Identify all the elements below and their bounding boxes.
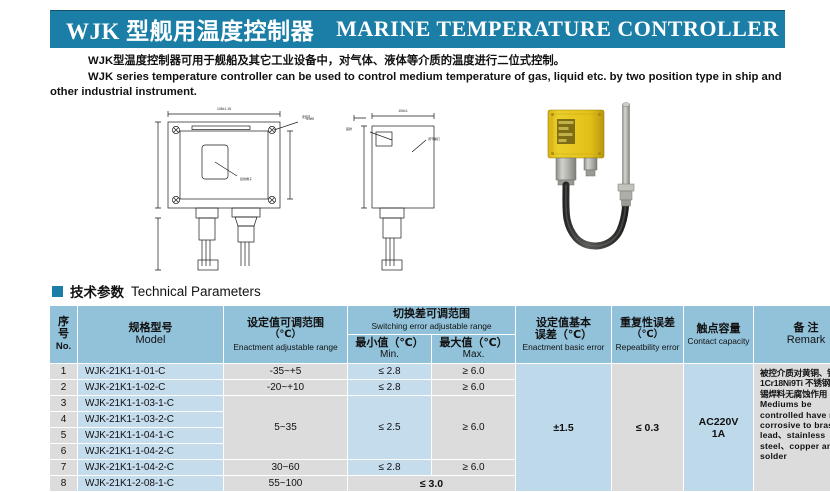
row-switch-min: ≤ 2.8 bbox=[348, 460, 432, 476]
title-chinese: WJK 型舰用温度控制器 bbox=[66, 12, 314, 46]
row8-switching-merged: ≤ 3.0 bbox=[348, 476, 516, 492]
row-range: 55~100 bbox=[224, 476, 348, 492]
intro-paragraphs: WJK型温度控制器可用于舰船及其它工业设备中，对气体、液体等介质的温度进行二位式… bbox=[50, 54, 790, 101]
table-row: 1 WJK-21K1-1-01-C -35~+5 ≤ 2.8 ≥ 6.0 ±1.… bbox=[50, 364, 830, 380]
row-switch-min-merged: ≤ 2.5 bbox=[348, 396, 432, 460]
section-heading-english: Technical Parameters bbox=[131, 284, 261, 299]
page-title-bar: WJK 型舰用温度控制器 MARINE TEMPERATURE CONTROLL… bbox=[50, 10, 785, 48]
drawing-svg: 108±1.15 106±1 4-M5 接线端子 安装孔 铭牌 调节螺钉 bbox=[140, 100, 500, 275]
header-range: 设定值可调范围 （℃） Enactment adjustable range bbox=[224, 306, 348, 364]
row-model: WJK-21K1-1-03-1-C bbox=[78, 396, 224, 412]
row-no: 4 bbox=[50, 412, 78, 428]
title-english: MARINE TEMPERATURE CONTROLLER bbox=[336, 16, 779, 42]
intro-chinese: WJK型温度控制器可用于舰船及其它工业设备中，对气体、液体等介质的温度进行二位式… bbox=[50, 54, 790, 70]
basic-error-value: ±1.5 bbox=[516, 364, 612, 492]
header-basic-error: 设定值基本 误差（℃） Enactment basic error bbox=[516, 306, 612, 364]
intro-english-line1: WJK series temperature controller can be… bbox=[50, 70, 790, 86]
row-no: 6 bbox=[50, 444, 78, 460]
row-switch-min: ≤ 2.8 bbox=[348, 380, 432, 396]
repeat-error-value: ≤ 0.3 bbox=[612, 364, 684, 492]
header-no: 序号No. bbox=[50, 306, 78, 364]
square-bullet-icon bbox=[52, 286, 63, 297]
row-no: 7 bbox=[50, 460, 78, 476]
header-remark: 备 注 Remark bbox=[754, 306, 830, 364]
row-range: -20~+10 bbox=[224, 380, 348, 396]
header-model: 规格型号 Model bbox=[78, 306, 224, 364]
svg-text:安装孔: 安装孔 bbox=[302, 114, 311, 119]
row-model: WJK-21K1-1-04-2-C bbox=[78, 460, 224, 476]
section-heading: 技术参数 Technical Parameters bbox=[52, 281, 261, 301]
row-switch-max: ≥ 6.0 bbox=[432, 364, 516, 380]
row-switch-max: ≥ 6.0 bbox=[432, 380, 516, 396]
header-switching-min: 最小值（℃） Min. bbox=[348, 335, 432, 364]
dimensional-drawing: 108±1.15 106±1 4-M5 接线端子 安装孔 铭牌 调节螺钉 bbox=[140, 100, 500, 275]
svg-text:铭牌: 铭牌 bbox=[346, 126, 352, 131]
svg-text:108±1.15: 108±1.15 bbox=[217, 107, 231, 111]
header-contact-capacity: 触点容量 Contact capacity bbox=[684, 306, 754, 364]
row-no: 1 bbox=[50, 364, 78, 380]
row-no: 5 bbox=[50, 428, 78, 444]
row-range-merged: 5~35 bbox=[224, 396, 348, 460]
row-model: WJK-21K1-1-02-C bbox=[78, 380, 224, 396]
remark-value: 被控介质对黄铜、铅、1Cr18Ni9Ti 不锈钢、铜锡焊料无腐蚀作用 Mediu… bbox=[754, 364, 830, 492]
header-switching-group: 切换差可调范围 Switching error adjustable range bbox=[348, 306, 516, 335]
row-model: WJK-21K1-2-08-1-C bbox=[78, 476, 224, 492]
row-switch-max-merged: ≥ 6.0 bbox=[432, 396, 516, 460]
table-header-row-1: 序号No. 规格型号 Model 设定值可调范围 （℃） Enactment a… bbox=[50, 306, 830, 335]
photo-svg bbox=[528, 98, 708, 274]
row-no: 3 bbox=[50, 396, 78, 412]
row-no: 2 bbox=[50, 380, 78, 396]
header-switching-max: 最大值（℃） Max. bbox=[432, 335, 516, 364]
svg-text:调节螺钉: 调节螺钉 bbox=[428, 136, 440, 141]
row-model: WJK-21K1-1-01-C bbox=[78, 364, 224, 380]
section-heading-chinese: 技术参数 bbox=[70, 281, 124, 301]
row-model: WJK-21K1-1-04-2-C bbox=[78, 444, 224, 460]
svg-text:接线端子: 接线端子 bbox=[240, 176, 252, 181]
row-range: -35~+5 bbox=[224, 364, 348, 380]
row-no: 8 bbox=[50, 476, 78, 492]
parameters-table: 序号No. 规格型号 Model 设定值可调范围 （℃） Enactment a… bbox=[49, 305, 830, 492]
row-model: WJK-21K1-1-04-1-C bbox=[78, 428, 224, 444]
product-photo bbox=[528, 98, 708, 274]
row-switch-min: ≤ 2.8 bbox=[348, 364, 432, 380]
technical-parameters-table: 序号No. 规格型号 Model 设定值可调范围 （℃） Enactment a… bbox=[49, 305, 786, 492]
row-range: 30~60 bbox=[224, 460, 348, 476]
row-switch-max: ≥ 6.0 bbox=[432, 460, 516, 476]
contact-capacity-value: AC220V 1A bbox=[684, 364, 754, 492]
row-model: WJK-21K1-1-03-2-C bbox=[78, 412, 224, 428]
svg-text:106±1: 106±1 bbox=[398, 109, 408, 113]
header-repeat-error: 重复性误差 （℃） Repeatbility error bbox=[612, 306, 684, 364]
media-band: 108±1.15 106±1 4-M5 接线端子 安装孔 铭牌 调节螺钉 bbox=[0, 96, 830, 276]
